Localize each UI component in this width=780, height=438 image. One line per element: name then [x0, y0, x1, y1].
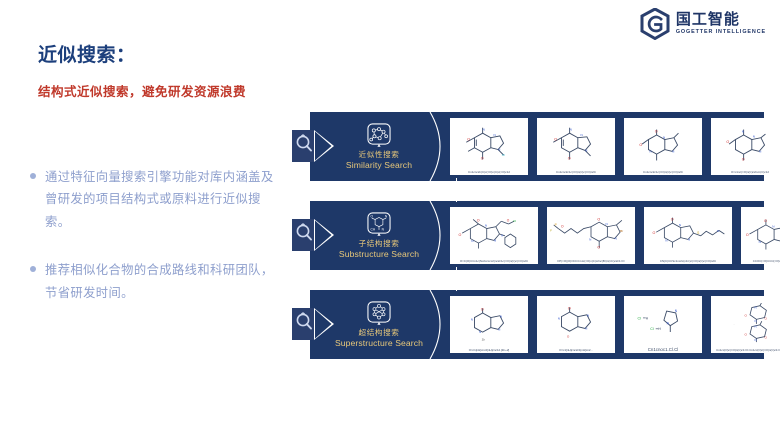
svg-text:N: N	[479, 330, 481, 334]
svg-text:N: N	[675, 309, 678, 313]
svg-text:O: O	[742, 158, 745, 162]
svg-text:N: N	[498, 148, 500, 152]
page-title: 近似搜索：	[38, 40, 136, 67]
svg-text:N: N	[494, 133, 496, 137]
svg-text:Cl: Cl	[502, 153, 505, 157]
molecule-card[interactable]: O O N N N S N CN(C)CCSc1nc2c(n1C)c(=O)n(…	[644, 207, 732, 264]
svg-text:N: N	[759, 240, 761, 244]
svg-text:S: S	[697, 231, 700, 235]
row-label-en: Similarity Search	[346, 160, 412, 171]
svg-text:N: N	[570, 128, 572, 132]
svg-text:N: N	[385, 215, 388, 219]
svg-text:O: O	[597, 246, 600, 250]
bullet-text: 通过特征向量搜索引擎功能对库内涵盖及曾研发的项目结构式或原料进行近似搜索。	[45, 166, 285, 233]
svg-text:.: .	[734, 322, 735, 326]
svg-text:N: N	[589, 238, 591, 242]
molecule-card[interactable]: O N N N O O=c1[nH]cnc2c1[nH]cn2...	[537, 296, 615, 353]
svg-text:O: O	[671, 218, 674, 222]
svg-text:Cl: Cl	[513, 219, 516, 223]
bullet-dot-icon	[30, 173, 36, 179]
molecule-card[interactable]: O O N N O O N N . Cn1cc(O)c(=O)n(C)c1=O.…	[711, 296, 780, 353]
molecule-smiles: O=c1[nH]cnc2c1[nH]cn2...	[539, 349, 613, 352]
svg-text:H: H	[501, 234, 503, 238]
molecule-card[interactable]: O O N N N Cn1cnc2c1c(=O)n(C)c(=O)n2C	[624, 118, 702, 175]
molecule-smiles: CN(C)CCSc1nc2c(n1C)c(=O)n(C)c(=O)n2C	[646, 260, 730, 263]
svg-text:O: O	[765, 317, 768, 321]
svg-text:O: O	[597, 218, 600, 222]
svg-text:N: N	[585, 149, 587, 153]
svg-text:N: N	[672, 150, 674, 154]
hypoxanthine-structure-icon: O N N N O	[539, 298, 613, 349]
search-row-similarity[interactable]: 近似性搜索 Similarity Search	[310, 112, 764, 181]
slide-root: 国工智能 GOGETTER INTELLIGENCE 近似搜索： 结构式近似搜索…	[0, 0, 780, 438]
svg-text:O: O	[567, 335, 570, 339]
molecule-card[interactable]: O O O O O N N N CCOC(=O)CCC(=O)n1cnc2c1c…	[741, 207, 780, 264]
molecule-smiles: Cn1cc(O)c(=O)n(C)c1=O.Cn1cc(O)c(=O)n(C)c…	[713, 349, 780, 352]
search-rows: 近似性搜索 Similarity Search	[310, 112, 764, 379]
search-row-substructure[interactable]: O N CH N 子结构搜索 Substructure Search	[310, 201, 764, 270]
list-item: 推荐相似化合物的合成路线和科研团队，节省研发时间。	[30, 259, 285, 304]
molecule-card[interactable]: O O N N N Cl Cn1cnc2n(C)c(=O)n(C)c(=O)c1…	[450, 118, 528, 175]
search-row-superstructure[interactable]: 超结构搜索 Superstructure Search O N	[310, 290, 764, 359]
molecule-smiles: O=c1[nH]cnc2[nH]cnc12.[Zn+2]	[452, 349, 526, 352]
svg-text:N: N	[471, 239, 473, 243]
svg-text:CH: CH	[371, 228, 376, 232]
bullet-dot-icon	[30, 266, 36, 272]
svg-text:O: O	[726, 140, 729, 144]
logo-chinese-name: 国工智能	[676, 12, 766, 27]
ester-chain-purine-structure-icon: O O O O O N N N	[743, 209, 780, 260]
svg-text:O: O	[568, 307, 571, 311]
svg-text:H: H	[646, 317, 649, 321]
svg-text:O: O	[765, 336, 768, 340]
brand-logo: 国工智能 GOGETTER INTELLIGENCE	[640, 8, 766, 40]
molecule-card[interactable]: O O O Cl N N H N O=C(O)CCn1c(Nc2ccccc2)n…	[450, 207, 538, 264]
svg-text:N: N	[772, 225, 774, 229]
svg-text:N: N	[688, 238, 690, 242]
svg-text:N: N	[755, 319, 757, 323]
svg-text:F: F	[550, 229, 552, 233]
svg-text:N: N	[471, 318, 473, 322]
molecule-card[interactable]: O N N N N Zn O=c1[nH]cnc2[nH]cnc12.[Zn+2…	[450, 296, 528, 353]
svg-text:N: N	[755, 306, 757, 310]
svg-text:O: O	[746, 233, 749, 237]
row-label-en: Substructure Search	[339, 249, 419, 260]
list-item: 通过特征向量搜索引擎功能对库内涵盖及曾研发的项目结构式或原料进行近似搜索。	[30, 166, 285, 233]
svg-text:N: N	[483, 128, 485, 132]
dimethyluracil-pair-structure-icon: O O N N O O N N .	[713, 298, 780, 349]
flow-connector-line	[456, 178, 457, 202]
svg-text:N: N	[679, 223, 681, 227]
molecule-card[interactable]: N N Cl H Cl H Cn1cnoc1.Cl.Cl	[624, 296, 702, 353]
svg-text:N: N	[606, 222, 608, 226]
svg-text:N: N	[587, 314, 589, 318]
molecule-card[interactable]: O O N N N Cn1cnc2c1c(=O)n(C)c(=O)n2C	[537, 118, 615, 175]
svg-text:O: O	[653, 231, 656, 235]
thio-aminoethyl-purine-structure-icon: O O N N N S N	[646, 209, 730, 260]
logo-wordmark: 国工智能 GOGETTER INTELLIGENCE	[676, 12, 766, 35]
svg-text:N: N	[759, 150, 761, 154]
molecule-smiles: Cn1cnc2c1c(=O)n(C)c(=O)n2C	[539, 171, 613, 174]
svg-text:N: N	[665, 239, 667, 243]
bromo-propoxy-purine-structure-icon: O O P F O N N N Br	[549, 209, 633, 260]
svg-text:N: N	[742, 130, 744, 134]
row-label-cn: 超结构搜索	[359, 328, 400, 337]
row-label-en: Superstructure Search	[335, 338, 423, 349]
svg-text:N: N	[755, 338, 757, 342]
bullet-list: 通过特征向量搜索引擎功能对库内涵盖及曾研发的项目结构式或原料进行近似搜索。 推荐…	[30, 166, 285, 330]
svg-text:O: O	[745, 333, 748, 337]
svg-text:N: N	[485, 224, 487, 228]
magnifier-arrow-icon	[292, 300, 338, 348]
molecule-smiles: Cn1cnc2c1c(=O)n(C)c(=O)n2C	[626, 171, 700, 174]
magnifier-arrow-icon	[292, 122, 338, 170]
svg-text:O: O	[459, 233, 462, 237]
svg-text:Zn: Zn	[482, 338, 486, 342]
svg-text:O: O	[655, 130, 658, 134]
result-cards-superstructure: O N N N N Zn O=c1[nH]cnc2[nH]cnc12.[Zn+2…	[434, 290, 780, 359]
svg-text:O: O	[561, 225, 564, 229]
svg-text:N: N	[581, 133, 583, 137]
flow-connector-line	[456, 267, 457, 291]
theophylline-structure-icon: O O N N N	[626, 120, 700, 171]
svg-text:N: N	[753, 135, 755, 139]
row-label-cn: 子结构搜索	[359, 239, 400, 248]
methylimidazole-salt-structure-icon: N N Cl H Cl H	[626, 298, 700, 347]
svg-text:N: N	[717, 229, 719, 233]
molecule-smiles: CCOC(=O)CCC(=O)n1cnc2c1c(=O)n(C)c(=O)n2C	[743, 260, 780, 263]
svg-text:P: P	[555, 223, 557, 227]
molecule-smiles: Cn1cnoc1.Cl.Cl	[626, 347, 700, 352]
caffeine-analog-structure-icon: O O N N N Cl	[452, 120, 526, 171]
svg-text:O: O	[371, 215, 374, 219]
svg-text:N: N	[663, 136, 665, 140]
svg-text:N: N	[585, 327, 587, 331]
caffeine-structure-icon: O O N N N	[539, 120, 613, 171]
logo-english-name: GOGETTER INTELLIGENCE	[676, 30, 766, 35]
svg-text:N: N	[755, 325, 757, 329]
bullet-text: 推荐相似化合物的合成路线和科研团队，节省研发时间。	[45, 259, 285, 304]
page-subtitle: 结构式近似搜索，避免研发资源浪费	[38, 81, 246, 100]
svg-text:H: H	[658, 328, 661, 332]
result-cards-similarity: O O N N N Cl Cn1cnc2n(C)c(=O)n(C)c(=O)c1…	[434, 112, 780, 181]
svg-text:O: O	[639, 143, 642, 147]
svg-text:N: N	[500, 315, 502, 319]
svg-text:O: O	[467, 138, 470, 142]
molecule-cluster-icon	[366, 300, 392, 326]
molecule-smiles: O=c1nc(=O)n(C)c2ncn(C)c12	[713, 171, 780, 174]
svg-text:Cl: Cl	[638, 317, 642, 321]
chloro-phenylamino-purine-structure-icon: O O O Cl N N H N	[452, 209, 536, 260]
svg-text:Cl: Cl	[650, 328, 654, 332]
result-cards-substructure: O O O Cl N N H N O=C(O)CCn1c(Nc2ccccc2)n…	[434, 201, 780, 270]
molecule-graph-icon	[366, 122, 392, 148]
svg-text:O: O	[554, 138, 557, 142]
svg-text:N: N	[382, 228, 385, 232]
svg-text:N: N	[649, 150, 651, 154]
molecule-card[interactable]: O O N N N O=c1nc(=O)n(C)c2ncn(C)c12	[711, 118, 780, 175]
svg-text:N: N	[494, 239, 496, 243]
molecule-smiles: Cn1cnc2n(C)c(=O)n(C)c(=O)c12	[452, 171, 526, 174]
svg-text:Br: Br	[620, 229, 623, 233]
molecule-card[interactable]: O O P F O N N N Br FP(=O)(O)OCCCn1c(=O)n…	[547, 207, 635, 264]
svg-text:N: N	[558, 317, 560, 321]
molecule-labeled-icon: O N CH N	[366, 211, 392, 237]
svg-text:O: O	[568, 157, 571, 161]
xanthine-derivative-structure-icon: O O N N N	[713, 120, 780, 171]
row-label-cn: 近似性搜索	[359, 150, 400, 159]
svg-text:O: O	[745, 314, 748, 318]
svg-text:O: O	[481, 157, 484, 161]
svg-text:O: O	[481, 308, 484, 312]
molecule-smiles: FP(=O)(O)OCCCn1c(=O)n(C)c2nc(Br)n(CC)c2c…	[549, 260, 633, 263]
molecule-smiles: O=C(O)CCn1c(Nc2ccccc2)nc2c1c(=O)n(C)c(=O…	[452, 260, 536, 263]
svg-text:O: O	[507, 219, 510, 223]
hexagon-g-logo-icon	[640, 8, 670, 40]
magnifier-arrow-icon	[292, 211, 338, 259]
svg-text:O: O	[764, 219, 767, 223]
svg-text:N: N	[498, 328, 500, 332]
hypoxanthine-dimer-structure-icon: O N N N N Zn	[452, 298, 526, 349]
svg-text:N: N	[615, 237, 617, 241]
svg-text:O: O	[477, 219, 480, 223]
